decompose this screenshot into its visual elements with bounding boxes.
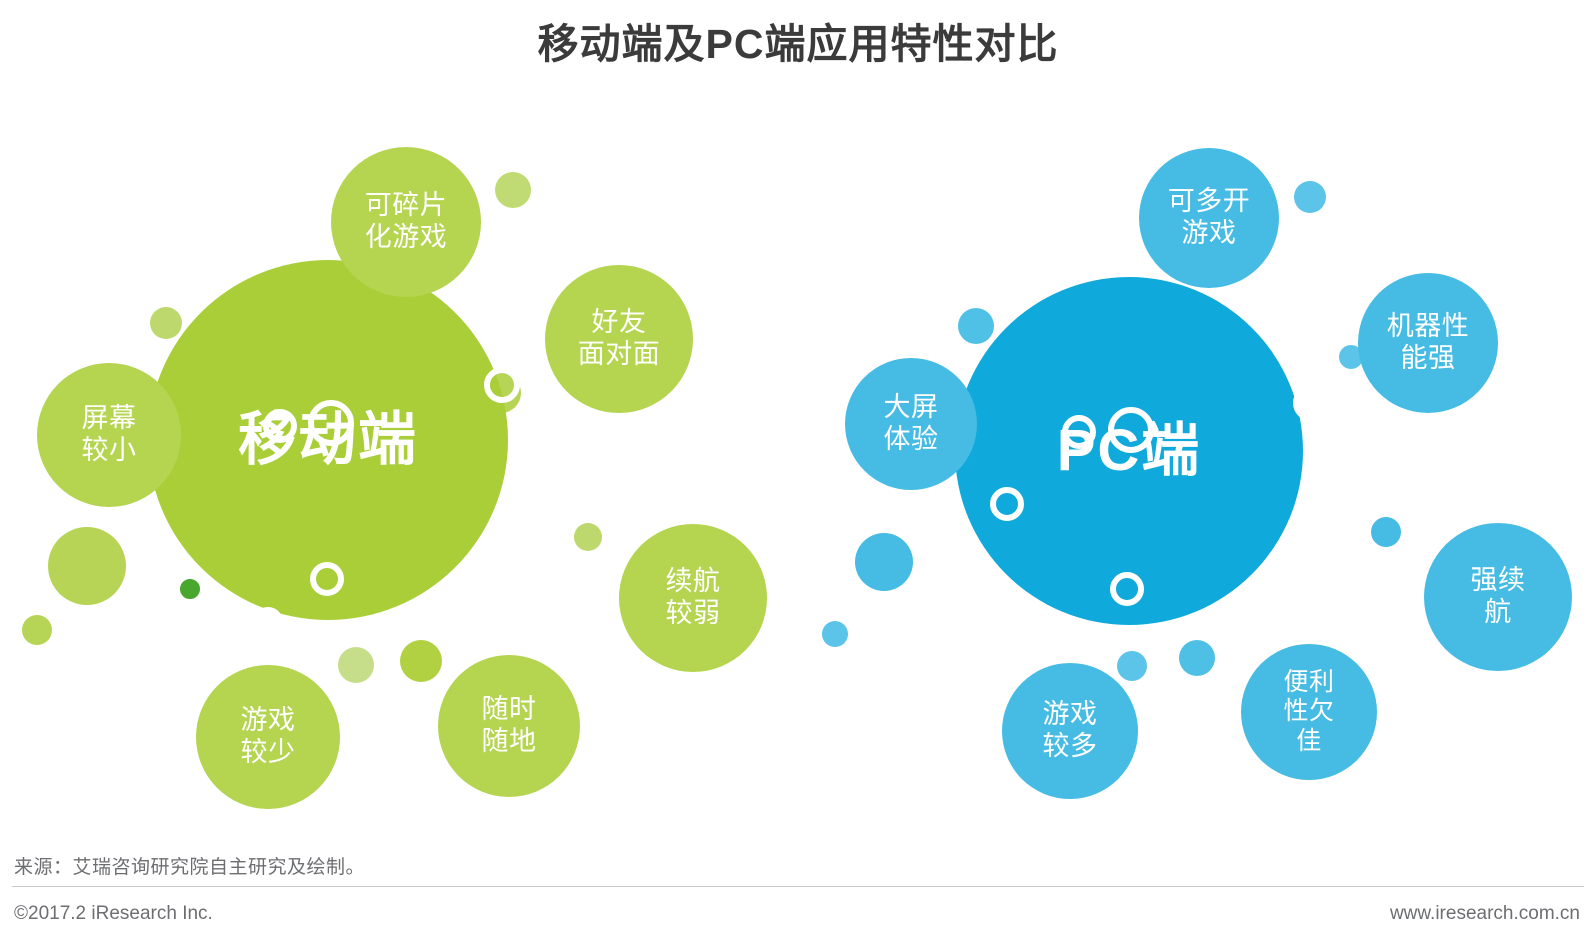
bubble-big-screen-experience-label: 大屏 体验 [884, 392, 939, 456]
bubble-poor-portability-label: 便利 性欠 佳 [1283, 668, 1334, 757]
hub-ring-blue-2 [1108, 407, 1154, 453]
decorative-dot-green-1 [495, 172, 531, 208]
bubble-strong-machine-performance[interactable]: 机器性 能强 [1358, 273, 1498, 413]
bubble-multi-instance-gaming-label: 可多开 游戏 [1168, 186, 1251, 250]
decorative-dot-green-4 [48, 527, 126, 605]
bubble-more-games[interactable]: 游戏 较多 [1002, 663, 1138, 799]
decorative-dot-blue-8 [1117, 651, 1147, 681]
bubble-small-screen-label: 屏幕 较小 [82, 403, 137, 467]
bubble-strong-battery-life[interactable]: 强续 航 [1424, 523, 1572, 671]
decorative-dot-green-5 [22, 615, 52, 645]
hub-ring-green-filled [174, 573, 206, 605]
bubble-small-screen[interactable]: 屏幕 较小 [37, 363, 181, 507]
hub-ring-green-1 [263, 409, 297, 443]
hub-ring-blue-4 [1110, 572, 1144, 606]
bubble-friends-face-to-face[interactable]: 好友 面对面 [545, 265, 693, 413]
bubble-multi-instance-gaming[interactable]: 可多开 游戏 [1139, 148, 1279, 288]
bubble-more-games-label: 游戏 较多 [1043, 699, 1098, 763]
decorative-dot-blue-5 [855, 533, 913, 591]
decorative-dot-green-6 [574, 523, 602, 551]
footer-divider [12, 886, 1584, 887]
page-title: 移动端及PC端应用特性对比 [0, 10, 1596, 70]
bubble-fragmented-gaming[interactable]: 可碎片 化游戏 [331, 147, 481, 297]
infographic-page: 移动端及PC端应用特性对比 移动端 可碎片 化游戏 屏幕 较小 好友 面 [0, 0, 1596, 949]
hub-ring-blue-3 [990, 487, 1024, 521]
decorative-dot-green-2 [150, 307, 182, 339]
bubble-anytime-anywhere-label: 随时 随地 [482, 694, 537, 758]
bubble-weak-battery-life[interactable]: 续航 较弱 [619, 524, 767, 672]
hub-ring-green-2 [308, 400, 354, 446]
hub-ring-blue-1 [1062, 415, 1096, 449]
bubble-fewer-games-label: 游戏 较少 [241, 705, 296, 769]
bubble-strong-battery-life-label: 强续 航 [1471, 565, 1526, 629]
decorative-dot-blue-4 [1371, 517, 1401, 547]
hub-ring-blue-5 [1293, 385, 1329, 421]
bubble-weak-battery-life-label: 续航 较弱 [666, 566, 721, 630]
website-link[interactable]: www.iresearch.com.cn [1390, 903, 1580, 925]
hub-ring-green-3 [310, 562, 344, 596]
decorative-dot-green-8 [400, 640, 442, 682]
decorative-dot-blue-1 [1294, 181, 1326, 213]
bubble-big-screen-experience[interactable]: 大屏 体验 [845, 358, 977, 490]
hub-ring-green-5 [484, 367, 520, 403]
copyright-text: ©2017.2 iResearch Inc. [14, 903, 213, 925]
bubble-fewer-games[interactable]: 游戏 较少 [196, 665, 340, 809]
bubble-anytime-anywhere[interactable]: 随时 随地 [438, 655, 580, 797]
bubble-strong-machine-performance-label: 机器性 能强 [1387, 311, 1470, 375]
decorative-dot-green-7 [338, 647, 374, 683]
hub-ring-green-4 [253, 607, 283, 637]
decorative-dot-blue-6 [822, 621, 848, 647]
bubble-fragmented-gaming-label: 可碎片 化游戏 [365, 190, 448, 254]
bubble-poor-portability[interactable]: 便利 性欠 佳 [1241, 644, 1377, 780]
bubble-friends-face-to-face-label: 好友 面对面 [578, 307, 661, 371]
bubble-diagram: 移动端 可碎片 化游戏 屏幕 较小 好友 面对面 续航 较弱 游戏 较少 随时 … [0, 95, 1596, 825]
source-note: 来源：艾瑞咨询研究院自主研究及绘制。 [14, 852, 365, 879]
decorative-dot-blue-2 [958, 308, 994, 344]
decorative-dot-blue-7 [1179, 640, 1215, 676]
